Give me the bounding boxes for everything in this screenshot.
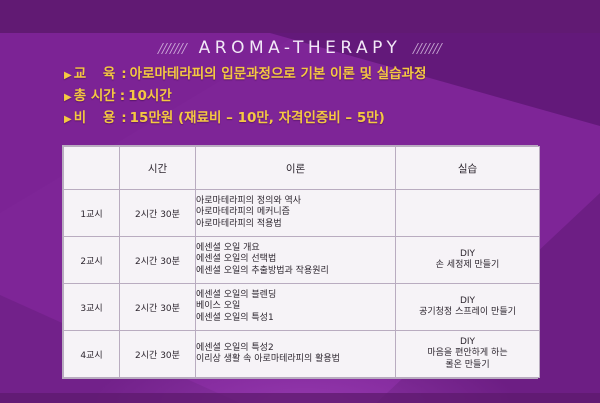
text-line: 이리상 생활 속 아로마테라피의 활용법 xyxy=(196,354,395,366)
background-top-band xyxy=(0,0,600,33)
text-line: 아로마테라피의 메커니즘 xyxy=(196,207,395,219)
bullet-line: ▶비 용:15만원 (재료비 – 10만, 자격인증비 – 5만) xyxy=(64,108,584,130)
text-line: 공기청정 스프레이 만들기 xyxy=(396,307,539,319)
text-line: 에센셜 오일의 블렌딩 xyxy=(196,290,395,302)
bullet-line: ▶교 육:아로마테라피의 입문과정으로 기본 이론 및 실습과정 xyxy=(64,64,584,86)
text-line: 에센셜 오일의 특성2 xyxy=(196,343,395,355)
cell-theory: 에센셜 오일의 특성2이리상 생활 속 아로마테라피의 활용법 xyxy=(196,331,396,378)
bullet-list: ▶교 육:아로마테라피의 입문과정으로 기본 이론 및 실습과정▶총 시간:10… xyxy=(64,64,584,130)
bullet-triangle-icon: ▶ xyxy=(64,65,72,86)
text-line: DIY xyxy=(396,337,539,349)
bullet-triangle-icon: ▶ xyxy=(64,87,72,108)
practice-text-block: DIY손 세정제 만들기 xyxy=(396,249,539,272)
bullet-value: 10시간 xyxy=(128,86,172,107)
cell-period: 1교시 xyxy=(64,190,120,237)
table-row: 2교시2시간 30분에센셜 오일 개요에센셜 오일의 선택법에센셜 오일의 추출… xyxy=(64,237,540,284)
cell-theory: 에센셜 오일 개요에센셜 오일의 선택법에센셜 오일의 추출방법과 작용원리 xyxy=(196,237,396,284)
bullet-separator: : xyxy=(120,86,125,107)
cell-practice xyxy=(396,190,540,237)
cell-period: 3교시 xyxy=(64,284,120,331)
poster-canvas: AROMA-THERAPY ▶교 육:아로마테라피의 입문과정으로 기본 이론 … xyxy=(0,0,600,403)
practice-text-block: DIY마음을 편안하게 하는롤온 만들기 xyxy=(396,337,539,372)
bullet-triangle-icon: ▶ xyxy=(64,109,72,130)
text-line: DIY xyxy=(396,296,539,308)
table-row: 3교시2시간 30분에센셜 오일의 블렌딩베이스 오일에센셜 오일의 특성1DI… xyxy=(64,284,540,331)
schedule-table-body: 1교시2시간 30분아로마테라피의 정의와 역사아로마테라피의 메커니즘아로마테… xyxy=(64,190,540,378)
text-line: 에센셜 오일의 추출방법과 작용원리 xyxy=(196,266,395,278)
bullet-line: ▶총 시간:10시간 xyxy=(64,86,584,108)
background-bottom-band xyxy=(0,393,600,403)
theory-text-block: 에센셜 오일의 특성2이리상 생활 속 아로마테라피의 활용법 xyxy=(196,343,395,366)
text-line: 에센셜 오일의 선택법 xyxy=(196,254,395,266)
bullet-separator: : xyxy=(121,64,126,85)
text-line: 롤온 만들기 xyxy=(396,360,539,372)
slash-decoration-right-icon xyxy=(415,42,440,54)
cell-practice: DIY마음을 편안하게 하는롤온 만들기 xyxy=(396,331,540,378)
cell-period: 4교시 xyxy=(64,331,120,378)
table-header-row: 시간 이론 실습 xyxy=(64,147,540,190)
page-title: AROMA-THERAPY xyxy=(199,38,402,58)
cell-time: 2시간 30분 xyxy=(120,331,196,378)
text-line: 아로마테라피의 정의와 역사 xyxy=(196,196,395,208)
column-header-theory: 이론 xyxy=(196,147,396,190)
bullet-label: 총 시간 xyxy=(74,86,120,107)
text-line: DIY xyxy=(396,249,539,261)
cell-time: 2시간 30분 xyxy=(120,284,196,331)
text-line: 손 세정제 만들기 xyxy=(396,260,539,272)
cell-period: 2교시 xyxy=(64,237,120,284)
table-row: 1교시2시간 30분아로마테라피의 정의와 역사아로마테라피의 메커니즘아로마테… xyxy=(64,190,540,237)
bullet-label: 비 용 xyxy=(74,108,122,129)
theory-text-block: 아로마테라피의 정의와 역사아로마테라피의 메커니즘아로마테라피의 적용법 xyxy=(196,196,395,231)
cell-practice: DIY공기청정 스프레이 만들기 xyxy=(396,284,540,331)
cell-practice: DIY손 세정제 만들기 xyxy=(396,237,540,284)
bullet-label: 교 육 xyxy=(74,64,122,85)
text-line: 에센셜 오일 개요 xyxy=(196,243,395,255)
schedule-table: 시간 이론 실습 1교시2시간 30분아로마테라피의 정의와 역사아로마테라피의… xyxy=(63,146,540,378)
cell-theory: 에센셜 오일의 블렌딩베이스 오일에센셜 오일의 특성1 xyxy=(196,284,396,331)
bullet-value: 아로마테라피의 입문과정으로 기본 이론 및 실습과정 xyxy=(130,64,427,85)
text-line: 에센셜 오일의 특성1 xyxy=(196,313,395,325)
column-header-period xyxy=(64,147,120,190)
schedule-table-head: 시간 이론 실습 xyxy=(64,147,540,190)
bullet-separator: : xyxy=(121,108,126,129)
bullet-value: 15만원 (재료비 – 10만, 자격인증비 – 5만) xyxy=(130,108,385,129)
table-row: 4교시2시간 30분에센셜 오일의 특성2이리상 생활 속 아로마테라피의 활용… xyxy=(64,331,540,378)
text-line: 아로마테라피의 적용법 xyxy=(196,219,395,231)
column-header-practice: 실습 xyxy=(396,147,540,190)
cell-time: 2시간 30분 xyxy=(120,190,196,237)
text-line: 마음을 편안하게 하는 xyxy=(396,348,539,360)
cell-time: 2시간 30분 xyxy=(120,237,196,284)
column-header-time: 시간 xyxy=(120,147,196,190)
poster-title-row: AROMA-THERAPY xyxy=(0,38,600,58)
schedule-table-container: 시간 이론 실습 1교시2시간 30분아로마테라피의 정의와 역사아로마테라피의… xyxy=(62,145,538,379)
cell-theory: 아로마테라피의 정의와 역사아로마테라피의 메커니즘아로마테라피의 적용법 xyxy=(196,190,396,237)
practice-text-block: DIY공기청정 스프레이 만들기 xyxy=(396,296,539,319)
text-line: 베이스 오일 xyxy=(196,301,395,313)
theory-text-block: 에센셜 오일 개요에센셜 오일의 선택법에센셜 오일의 추출방법과 작용원리 xyxy=(196,243,395,278)
slash-decoration-left-icon xyxy=(160,42,185,54)
theory-text-block: 에센셜 오일의 블렌딩베이스 오일에센셜 오일의 특성1 xyxy=(196,290,395,325)
